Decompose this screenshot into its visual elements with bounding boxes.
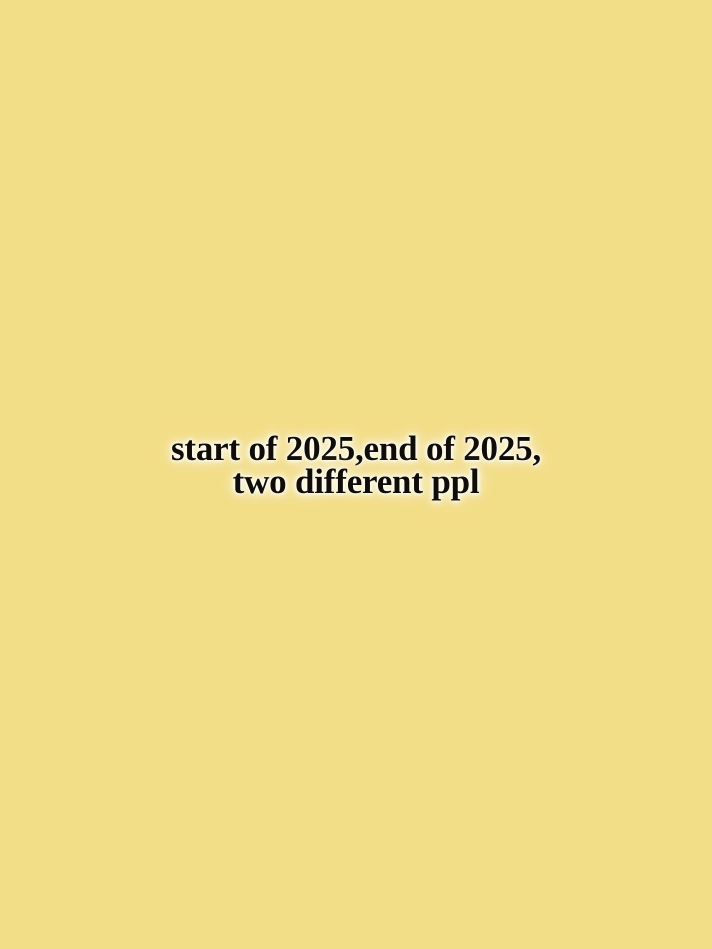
caption-line-1: start of 2025,end of 2025, — [171, 432, 541, 465]
caption-overlay: start of 2025,end of 2025, two different… — [0, 432, 712, 498]
caption-line-2: two different ppl — [233, 465, 480, 498]
video-caption-canvas: start of 2025,end of 2025, two different… — [0, 0, 712, 949]
